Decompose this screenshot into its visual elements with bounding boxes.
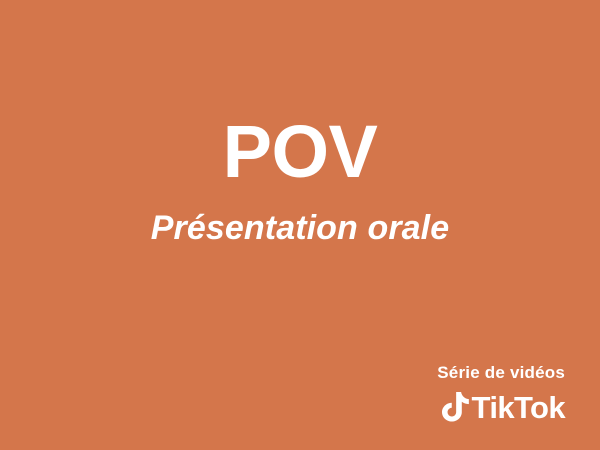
pov-title-slide: POV Présentation orale Série de vidéos T… bbox=[0, 0, 600, 450]
tiktok-wordmark: TikTok bbox=[472, 392, 565, 423]
tiktok-music-note-icon bbox=[442, 392, 469, 423]
headline-block: POV Présentation orale bbox=[0, 118, 600, 247]
tiktok-logo-lockup: TikTok bbox=[442, 392, 565, 423]
series-label: Série de vidéos bbox=[437, 363, 565, 383]
branding-block: Série de vidéos TikTok bbox=[437, 363, 565, 423]
page-subtitle: Présentation orale bbox=[20, 210, 580, 247]
page-title: POV bbox=[20, 118, 580, 186]
